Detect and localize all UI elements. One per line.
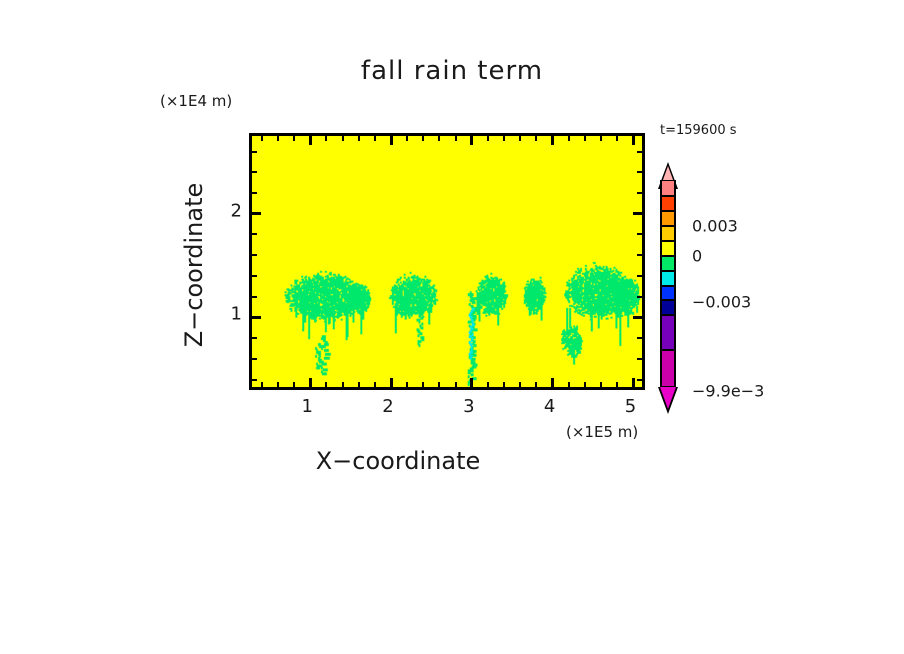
- y-tick-label: 1: [218, 304, 242, 325]
- x-tick-minor: [342, 136, 344, 141]
- y-tick-minor: [252, 358, 257, 360]
- y-tick-minor: [637, 379, 642, 381]
- x-tick-minor: [293, 136, 295, 141]
- x-tick-major: [551, 378, 554, 387]
- y-tick-minor: [252, 275, 257, 277]
- x-tick-minor: [325, 136, 327, 141]
- y-tick-minor: [252, 192, 257, 194]
- figure-canvas: fall rain term (×1E4 m) t=159600 s 12345…: [0, 0, 904, 654]
- colorbar-tick-label: 0.003: [692, 217, 738, 236]
- x-axis-unit-label: (×1E5 m): [566, 423, 638, 441]
- y-axis-label-text: Z−coordinate: [180, 155, 208, 375]
- x-tick-major: [470, 136, 473, 145]
- colorbar-segment[interactable]: [660, 300, 676, 315]
- x-tick-minor: [503, 136, 505, 141]
- y-tick-major: [252, 212, 261, 215]
- colorbar-segment[interactable]: [660, 226, 676, 241]
- x-axis-label-text: X−coordinate: [316, 447, 481, 475]
- x-tick-minor: [422, 136, 424, 141]
- heatmap-field: [252, 136, 642, 387]
- colorbar-segment[interactable]: [660, 350, 676, 387]
- x-tick-minor: [568, 382, 570, 387]
- x-tick-minor: [438, 382, 440, 387]
- x-tick-major: [632, 136, 635, 145]
- page-title: fall rain term: [0, 56, 904, 86]
- y-tick-minor: [637, 275, 642, 277]
- x-tick-minor: [487, 382, 489, 387]
- colorbar-segment[interactable]: [660, 271, 676, 286]
- y-tick-minor: [637, 337, 642, 339]
- colorbar-segment[interactable]: [660, 211, 676, 226]
- colorbar-segment[interactable]: [660, 196, 676, 211]
- y-tick-minor: [252, 233, 257, 235]
- x-tick-minor: [503, 382, 505, 387]
- x-tick-minor: [600, 382, 602, 387]
- x-tick-label: 4: [544, 396, 555, 417]
- y-tick-minor: [252, 171, 257, 173]
- x-tick-minor: [584, 136, 586, 141]
- colorbar-segment[interactable]: [660, 286, 676, 300]
- x-tick-minor: [406, 136, 408, 141]
- x-tick-minor: [358, 382, 360, 387]
- y-tick-minor: [637, 192, 642, 194]
- x-tick-minor: [293, 382, 295, 387]
- x-tick-minor: [406, 382, 408, 387]
- x-tick-minor: [584, 382, 586, 387]
- x-tick-minor: [519, 382, 521, 387]
- x-tick-minor: [616, 136, 618, 141]
- colorbar[interactable]: [660, 180, 676, 387]
- y-tick-major: [633, 316, 642, 319]
- x-tick-minor: [535, 382, 537, 387]
- x-tick-minor: [487, 136, 489, 141]
- x-tick-major: [309, 136, 312, 145]
- x-tick-minor: [277, 382, 279, 387]
- x-tick-minor: [422, 382, 424, 387]
- colorbar-bottom-arrow: [660, 387, 676, 409]
- colorbar-segment[interactable]: [660, 180, 676, 196]
- x-tick-label: 2: [382, 396, 393, 417]
- y-tick-minor: [637, 358, 642, 360]
- colorbar-segment[interactable]: [660, 315, 676, 350]
- colorbar-tick-label: −0.003: [692, 293, 751, 312]
- x-tick-minor: [277, 136, 279, 141]
- y-tick-minor: [637, 151, 642, 153]
- colorbar-tick-label: −9.9e−3: [692, 382, 764, 401]
- colorbar-segment[interactable]: [660, 241, 676, 256]
- y-tick-minor: [637, 254, 642, 256]
- y-tick-minor: [252, 296, 257, 298]
- x-tick-minor: [455, 382, 457, 387]
- x-axis-label: X−coordinate: [0, 447, 904, 475]
- x-tick-label: 1: [301, 396, 312, 417]
- colorbar-segment[interactable]: [660, 256, 676, 271]
- x-tick-label: 3: [463, 396, 474, 417]
- y-tick-label: 2: [218, 200, 242, 221]
- y-tick-major: [633, 212, 642, 215]
- y-tick-minor: [637, 171, 642, 173]
- x-tick-major: [390, 378, 393, 387]
- x-tick-minor: [374, 136, 376, 141]
- y-tick-minor: [252, 254, 257, 256]
- y-tick-minor: [637, 296, 642, 298]
- y-tick-minor: [252, 151, 257, 153]
- x-tick-major: [551, 136, 554, 145]
- x-tick-major: [470, 378, 473, 387]
- x-tick-minor: [438, 136, 440, 141]
- y-tick-minor: [252, 337, 257, 339]
- x-tick-label: 5: [625, 396, 636, 417]
- x-tick-minor: [519, 136, 521, 141]
- x-tick-minor: [261, 382, 263, 387]
- x-tick-minor: [358, 136, 360, 141]
- y-tick-minor: [637, 233, 642, 235]
- y-axis-label: Z−coordinate: [168, 0, 196, 155]
- x-tick-minor: [616, 382, 618, 387]
- x-tick-minor: [568, 136, 570, 141]
- x-tick-minor: [535, 136, 537, 141]
- x-tick-major: [632, 378, 635, 387]
- x-tick-minor: [325, 382, 327, 387]
- y-tick-minor: [252, 379, 257, 381]
- time-annotation: t=159600 s: [660, 123, 737, 138]
- plot-area[interactable]: [249, 133, 645, 390]
- x-tick-major: [390, 136, 393, 145]
- x-tick-minor: [600, 136, 602, 141]
- colorbar-tick-label: 0: [692, 247, 702, 266]
- y-tick-major: [252, 316, 261, 319]
- x-tick-major: [309, 378, 312, 387]
- x-tick-minor: [261, 136, 263, 141]
- x-tick-minor: [342, 382, 344, 387]
- x-tick-minor: [374, 382, 376, 387]
- x-tick-minor: [455, 136, 457, 141]
